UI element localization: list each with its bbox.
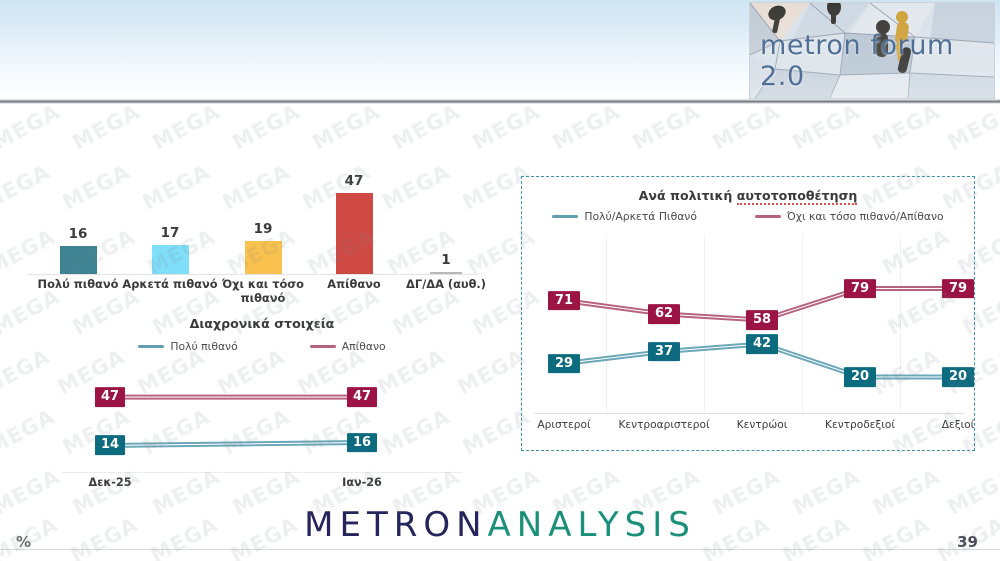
- data-point-label[interactable]: 20: [942, 367, 974, 387]
- legend-swatch: [138, 345, 164, 349]
- data-point-label[interactable]: 37: [648, 342, 680, 362]
- data-point-label[interactable]: 79: [844, 279, 876, 299]
- watermark-text: MEGA: [789, 99, 864, 154]
- bar-category-label: Απίθανο: [304, 278, 404, 292]
- trend-x-label: Δεκ-25: [50, 476, 170, 489]
- political-placement-panel: Ανά πολιτική αυτοτοποθέτηση Πολύ/Αρκετά …: [521, 176, 975, 451]
- trend-chart-legend: Πολύ πιθανόΑπίθανο: [62, 340, 462, 353]
- bar-value-label: 19: [218, 221, 308, 237]
- bar-rect[interactable]: [245, 241, 282, 274]
- panel-x-label: Αριστεροί: [509, 419, 619, 431]
- bar-category-label: Πολύ πιθανό: [28, 278, 128, 292]
- data-point-label[interactable]: 47: [347, 387, 377, 407]
- bar-category-label: ΔΓ/ΔΑ (αυθ.): [396, 278, 496, 292]
- bar-value-label: 16: [33, 226, 123, 242]
- bar-category-label: Όχι και τόσο πιθανό: [213, 278, 313, 306]
- line-series-svg: [62, 362, 462, 472]
- watermark-text: MEGA: [469, 99, 544, 154]
- watermark-text: MEGA: [309, 99, 384, 154]
- data-point-label[interactable]: 42: [746, 334, 778, 354]
- watermark-text: MEGA: [229, 99, 304, 154]
- data-point-label[interactable]: 29: [548, 354, 580, 374]
- bar-value-label: 47: [309, 173, 399, 189]
- data-point-label[interactable]: 16: [347, 433, 377, 453]
- brand-metron: METRON: [304, 505, 487, 545]
- data-point-label[interactable]: 14: [95, 436, 125, 456]
- legend-swatch: [552, 215, 578, 219]
- legend-swatch: [310, 345, 336, 349]
- legend-item[interactable]: Πολύ/Αρκετά Πιθανό: [552, 210, 697, 223]
- panel-x-label: Κεντρώοι: [707, 419, 817, 431]
- watermark-text: MEGA: [389, 99, 464, 154]
- unit-label: %: [16, 533, 31, 551]
- data-point-label[interactable]: 62: [648, 304, 680, 324]
- legend-label: Απίθανο: [342, 340, 386, 353]
- watermark-text: MEGA: [944, 99, 1000, 154]
- panel-x-label: Κεντροαριστεροί: [609, 419, 719, 431]
- watermark-text: MEGA: [709, 99, 784, 154]
- data-point-label[interactable]: 58: [746, 310, 778, 330]
- trend-line-chart: Διαχρονικά στοιχεία Πολύ πιθανόΑπίθανο 1…: [62, 312, 462, 502]
- data-point-label[interactable]: 47: [95, 387, 125, 407]
- header-divider: [0, 99, 1000, 104]
- metron-forum-logo: metron forum 2.0: [749, 2, 995, 99]
- watermark-text: MEGA: [0, 344, 54, 399]
- panel-chart-legend: Πολύ/Αρκετά ΠιθανόΌχι και τόσο πιθανό/Απ…: [522, 210, 974, 223]
- legend-label: Πολύ πιθανό: [170, 340, 237, 353]
- trend-x-label: Ιαν-26: [302, 476, 422, 489]
- bar-rect[interactable]: [430, 272, 462, 274]
- trend-chart-title: Διαχρονικά στοιχεία: [62, 316, 462, 331]
- bar-group: 47: [309, 173, 399, 274]
- bar-value-label: 17: [125, 225, 215, 241]
- bar-category-label: Αρκετά πιθανό: [120, 278, 220, 292]
- brand-analysis: ANALYSIS: [488, 505, 696, 545]
- metron-analysis-logo: METRONANALYSIS: [0, 505, 1000, 545]
- watermark-text: MEGA: [0, 404, 59, 459]
- trend-plot-area: 14164747: [62, 362, 462, 472]
- slide-root: MEGAMEGAMEGAMEGAMEGAMEGAMEGAMEGAMEGAMEGA…: [0, 0, 1000, 561]
- legend-swatch: [755, 215, 781, 219]
- panel-axis-line: [534, 413, 964, 414]
- watermark-text: MEGA: [454, 344, 529, 399]
- legend-label: Όχι και τόσο πιθανό/Απίθανο: [787, 210, 944, 223]
- legend-item[interactable]: Πολύ πιθανό: [138, 340, 237, 353]
- watermark-text: MEGA: [0, 99, 64, 154]
- bar-group: 17: [125, 225, 215, 274]
- legend-item[interactable]: Όχι και τόσο πιθανό/Απίθανο: [755, 210, 944, 223]
- bar-rect[interactable]: [60, 246, 97, 274]
- data-point-label[interactable]: 71: [548, 291, 580, 311]
- bar-group: 19: [218, 221, 308, 274]
- panel-x-label: Κεντροδεξιοί: [805, 419, 915, 431]
- bar-group: 16: [33, 226, 123, 274]
- watermark-text: MEGA: [149, 99, 224, 154]
- watermark-text: MEGA: [549, 99, 624, 154]
- panel-plot-area: 29374220207162587979: [534, 235, 964, 413]
- panel-x-label: Δεξιοί: [903, 419, 1000, 431]
- watermark-text: MEGA: [869, 99, 944, 154]
- watermark-text: MEGA: [629, 99, 704, 154]
- bar-chart-axis-line: [28, 274, 478, 275]
- panel-title-misspelled: αυτοτοποθέτηση: [737, 188, 858, 205]
- bar-group: 1: [401, 252, 491, 274]
- trend-axis-line: [62, 472, 462, 473]
- logo-text: metron forum 2.0: [760, 30, 990, 92]
- data-point-label[interactable]: 20: [844, 367, 876, 387]
- footer-divider: [0, 549, 1000, 550]
- watermark-text: MEGA: [69, 99, 144, 154]
- panel-title-plain: Ανά πολιτική: [639, 188, 737, 203]
- legend-label: Πολύ/Αρκετά Πιθανό: [584, 210, 697, 223]
- bar-rect[interactable]: [152, 245, 189, 274]
- data-point-label[interactable]: 79: [942, 279, 974, 299]
- bar-rect[interactable]: [336, 193, 373, 274]
- bar-value-label: 1: [401, 252, 491, 268]
- legend-item[interactable]: Απίθανο: [310, 340, 386, 353]
- page-number: 39: [957, 533, 978, 551]
- panel-chart-title: Ανά πολιτική αυτοτοποθέτηση: [522, 188, 974, 203]
- main-bar-chart: 16Πολύ πιθανό17Αρκετά πιθανό19Όχι και τό…: [18, 168, 488, 308]
